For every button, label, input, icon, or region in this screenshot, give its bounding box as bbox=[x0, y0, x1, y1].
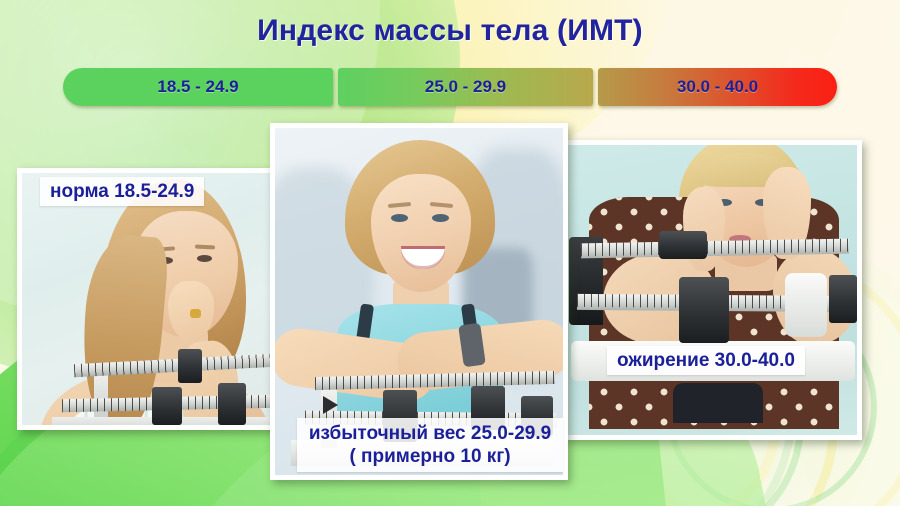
eye-right-shape bbox=[197, 255, 212, 262]
scale-weight-block-3 bbox=[218, 383, 246, 425]
legend-segment-overweight[interactable]: 25.0 - 29.9 bbox=[338, 68, 593, 106]
photo-card-normal[interactable] bbox=[17, 168, 279, 430]
ring-jewelry-shape bbox=[190, 309, 201, 318]
legend-segment-obese[interactable]: 30.0 - 40.0 bbox=[598, 68, 837, 106]
scale-pointer-icon bbox=[323, 396, 338, 414]
scale-foot-shape bbox=[673, 383, 763, 423]
caption-obese: ожирение 30.0-40.0 bbox=[607, 346, 805, 375]
scale-weight-block-3 bbox=[829, 275, 857, 323]
scale-weight-block-2 bbox=[152, 387, 182, 425]
scale-weight-block-2 bbox=[679, 277, 729, 343]
slide-root: Индекс массы тела (ИМТ) 18.5 - 24.9 25.0… bbox=[0, 0, 900, 506]
photo-card-obese[interactable] bbox=[562, 140, 862, 440]
eye-right-shape bbox=[432, 214, 449, 222]
photo-obese-woman bbox=[567, 145, 857, 435]
caption-overweight-line2: ( примерно 10 кг) bbox=[305, 445, 555, 468]
scale-weight-block-1 bbox=[659, 231, 707, 259]
scale-weight-block-1 bbox=[178, 349, 202, 383]
caption-normal: норма 18.5-24.9 bbox=[40, 177, 204, 206]
scale-knob-shape bbox=[785, 273, 827, 337]
page-title: Индекс массы тела (ИМТ) bbox=[0, 14, 900, 48]
face-shape bbox=[371, 174, 471, 292]
caption-overweight-line1: избыточный вес 25.0-29.9 bbox=[305, 422, 555, 445]
eye-left-shape bbox=[391, 214, 408, 222]
legend-segment-normal[interactable]: 18.5 - 24.9 bbox=[63, 68, 333, 106]
bmi-legend-bar: 18.5 - 24.9 25.0 - 29.9 30.0 - 40.0 bbox=[63, 68, 837, 106]
photo-normal-weight-woman bbox=[22, 173, 274, 425]
caption-overweight: избыточный вес 25.0-29.9 ( примерно 10 к… bbox=[297, 418, 563, 472]
